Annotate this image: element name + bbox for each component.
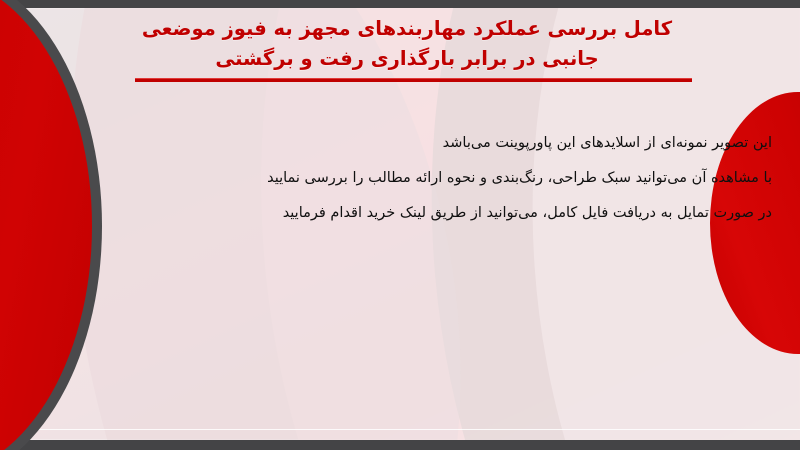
body-line-3: در صورت تمایل به دریافت فایل کامل، می‌تو… <box>72 196 772 231</box>
slide-title: کامل بررسی عملکرد مهاربندهای مجهز به فیو… <box>14 14 800 74</box>
slide-body-text: این تصویر نمونه‌ای از اسلایدهای این پاور… <box>72 126 772 231</box>
presentation-slide: کامل بررسی عملکرد مهاربندهای مجهز به فیو… <box>0 0 800 450</box>
body-line-1: این تصویر نمونه‌ای از اسلایدهای این پاور… <box>72 126 772 161</box>
slide-title-line-2: جانبی در برابر بارگذاری رفت و برگشتی <box>14 44 800 74</box>
title-divider-rule <box>135 78 692 82</box>
body-line-2: با مشاهده آن می‌توانید سبک طراحی، رنگ‌بن… <box>72 161 772 196</box>
bottom-highlight-strip <box>28 429 800 430</box>
slide-canvas: کامل بررسی عملکرد مهاربندهای مجهز به فیو… <box>14 8 800 440</box>
slide-title-line-1: کامل بررسی عملکرد مهاربندهای مجهز به فیو… <box>14 14 800 44</box>
